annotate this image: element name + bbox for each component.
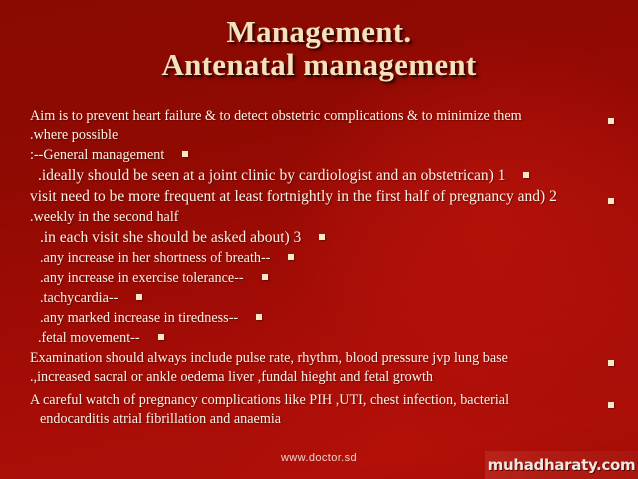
bullet-item-point-3: .in each visit she should be asked about… xyxy=(30,228,624,249)
watermark-banner: muhadharaty.com xyxy=(485,451,638,479)
bullet-item-examination-line1: Examination should always include pulse … xyxy=(30,350,508,366)
square-bullet-icon xyxy=(523,172,529,178)
bullet-item-aim-line2: .where possible xyxy=(30,126,576,145)
square-bullet-icon xyxy=(256,314,262,320)
bullet-item-aim-text: Aim is to prevent heart failure & to det… xyxy=(30,107,576,145)
bullet-item-point-2-text: visit need to be more frequent at least … xyxy=(30,187,576,226)
bullet-item-point-1: .ideally should be seen at a joint clini… xyxy=(30,166,624,187)
bullet-item-point-1-text: .ideally should be seen at a joint clini… xyxy=(38,167,505,184)
square-bullet-icon xyxy=(608,118,614,124)
presentation-slide: Management. Antenatal management Aim is … xyxy=(0,0,638,479)
bullet-item-sub-tiredness-text: .any marked increase in tiredness-- xyxy=(40,310,238,326)
bullet-item-sub-breath-text: .any increase in her shortness of breath… xyxy=(40,250,270,266)
bullet-item-examination: Examination should always include pulse … xyxy=(30,349,624,387)
square-bullet-icon xyxy=(288,254,294,260)
bullet-item-sub-tachycardia-text: .tachycardia-- xyxy=(40,290,118,306)
square-bullet-icon xyxy=(158,334,164,340)
square-bullet-icon xyxy=(262,274,268,280)
bullet-marker-aim xyxy=(576,107,624,132)
slide-title: Management. Antenatal management xyxy=(0,16,638,82)
bullet-marker-point-2 xyxy=(576,187,624,212)
bullet-item-sub-tachycardia: .tachycardia-- xyxy=(30,289,624,308)
bullet-marker-careful-watch xyxy=(576,391,624,416)
bullet-item-sub-breath: .any increase in her shortness of breath… xyxy=(30,249,624,268)
bullet-item-sub-fetal-movement: .fetal movement-- xyxy=(30,329,624,348)
square-bullet-icon xyxy=(608,402,614,408)
bullet-item-sub-fetal-movement-text: .fetal movement-- xyxy=(38,330,140,346)
bullet-item-sub-exercise: .any increase in exercise tolerance-- xyxy=(30,269,624,288)
bullet-item-point-2-line1: visit need to be more frequent at least … xyxy=(30,188,557,205)
square-bullet-icon xyxy=(319,234,325,240)
bullet-item-point-3-text: .in each visit she should be asked about… xyxy=(40,229,301,246)
bullet-item-point-2: visit need to be more frequent at least … xyxy=(30,187,624,226)
bullet-item-aim-line1: Aim is to prevent heart failure & to det… xyxy=(30,108,522,124)
bullet-item-sub-tiredness: .any marked increase in tiredness-- xyxy=(30,309,624,328)
bullet-item-careful-watch-line1: A careful watch of pregnancy complicatio… xyxy=(30,392,509,408)
bullet-item-examination-line2: .,increased sacral or ankle oedema liver… xyxy=(30,368,576,387)
bullet-item-examination-text: Examination should always include pulse … xyxy=(30,349,576,387)
bullet-item-general-management-text: :--General management xyxy=(30,147,164,163)
bullet-item-point-2-line2: .weekly in the second half xyxy=(30,208,576,227)
title-line-1: Management. xyxy=(0,16,638,49)
title-line-2: Antenatal management xyxy=(0,49,638,82)
square-bullet-icon xyxy=(182,151,188,157)
bullet-marker-examination xyxy=(576,349,624,374)
square-bullet-icon xyxy=(136,294,142,300)
square-bullet-icon xyxy=(608,198,614,204)
bullet-item-aim: Aim is to prevent heart failure & to det… xyxy=(30,107,624,145)
bullet-item-careful-watch-text: A careful watch of pregnancy complicatio… xyxy=(30,391,576,429)
bullet-item-sub-exercise-text: .any increase in exercise tolerance-- xyxy=(40,270,244,286)
bullet-item-careful-watch: A careful watch of pregnancy complicatio… xyxy=(30,391,624,429)
slide-body: Aim is to prevent heart failure & to det… xyxy=(0,107,638,430)
watermark-text: muhadharaty.com xyxy=(488,456,636,474)
bullet-item-general-management: :--General management xyxy=(30,146,624,165)
bullet-item-careful-watch-line2: endocarditis atrial fibrillation and ana… xyxy=(30,410,576,429)
square-bullet-icon xyxy=(608,360,614,366)
